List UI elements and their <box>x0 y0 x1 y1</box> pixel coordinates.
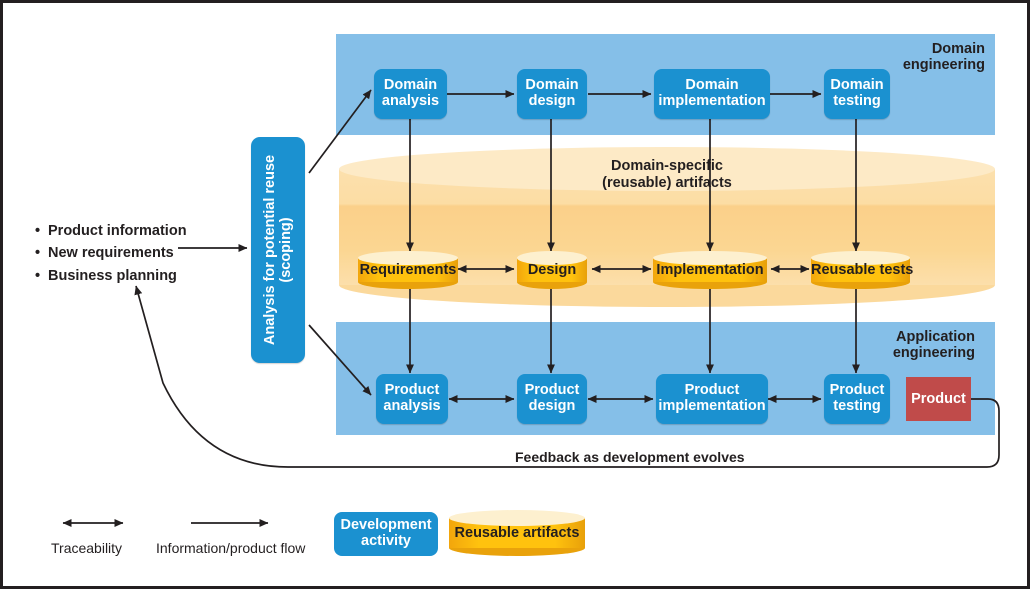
input-bullet-1: •Product information <box>35 220 187 242</box>
artifact-design-label: Design <box>517 262 587 278</box>
legend-development-activity-box: Development activity <box>334 512 438 556</box>
product-output-label: Product <box>911 391 966 407</box>
legend-cylinder-top <box>449 510 585 526</box>
activity-domain-testing-line2: testing <box>830 94 883 110</box>
legend-reusable-artifacts-label: Reusable artifacts <box>449 525 585 541</box>
activity-product-design[interactable]: Product design <box>517 374 587 424</box>
artifact-design[interactable]: Design <box>517 251 587 289</box>
activity-product-design-line1: Product <box>525 383 580 399</box>
activity-domain-design-line1: Domain <box>525 78 578 94</box>
input-bullet-3: •Business planning <box>35 265 187 287</box>
activity-product-analysis-line1: Product <box>383 383 440 399</box>
activity-product-analysis[interactable]: Product analysis <box>376 374 448 424</box>
activity-domain-design[interactable]: Domain design <box>517 69 587 119</box>
artifact-reusable-tests-label: Reusable tests <box>811 262 910 278</box>
activity-product-design-line2: design <box>525 399 580 415</box>
activity-domain-testing[interactable]: Domain testing <box>824 69 890 119</box>
scoping-box-text: Analysis for potential reuse (scoping) <box>262 155 294 345</box>
input-bullet-2: •New requirements <box>35 242 187 264</box>
legend-development-activity-line1: Development <box>340 518 431 534</box>
diagram-frame: Domain engineering Application engineeri… <box>0 0 1030 589</box>
activity-domain-testing-line1: Domain <box>830 78 883 94</box>
legend-info-flow-label: Information/product flow <box>156 540 305 556</box>
activity-domain-analysis-line2: analysis <box>382 94 439 110</box>
bullet-dot-icon: • <box>35 220 48 242</box>
activity-product-implementation-line2: implementation <box>658 399 765 415</box>
activity-domain-analysis-line1: Domain <box>382 78 439 94</box>
activity-product-testing-line1: Product <box>830 383 885 399</box>
artifact-requirements[interactable]: Requirements <box>358 251 458 289</box>
legend-development-activity-line2: activity <box>340 534 431 550</box>
activity-product-implementation[interactable]: Product implementation <box>656 374 768 424</box>
product-output-box[interactable]: Product <box>906 377 971 421</box>
scoping-box-line2: (scoping) <box>278 155 294 345</box>
input-bullet-1-label: Product information <box>48 223 187 239</box>
artifact-implementation-label: Implementation <box>653 262 767 278</box>
artifact-reusable-tests[interactable]: Reusable tests <box>811 251 910 289</box>
activity-domain-implementation-line2: implementation <box>658 94 765 110</box>
activity-domain-design-line2: design <box>525 94 578 110</box>
feedback-label: Feedback as development evolves <box>515 449 745 465</box>
scoping-box[interactable]: Analysis for potential reuse (scoping) <box>251 137 305 363</box>
activity-domain-analysis[interactable]: Domain analysis <box>374 69 447 119</box>
activity-product-testing-line2: testing <box>830 399 885 415</box>
scoping-box-line1: Analysis for potential reuse <box>262 155 278 345</box>
activity-product-testing[interactable]: Product testing <box>824 374 890 424</box>
legend-traceability-label: Traceability <box>51 540 122 556</box>
legend-reusable-artifacts-cylinder: Reusable artifacts <box>449 510 585 556</box>
activity-product-implementation-line1: Product <box>658 383 765 399</box>
activity-domain-implementation-line1: Domain <box>658 78 765 94</box>
bullet-dot-icon: • <box>35 265 48 287</box>
artifact-requirements-label: Requirements <box>358 262 458 278</box>
activity-product-analysis-line2: analysis <box>383 399 440 415</box>
input-bullet-3-label: Business planning <box>48 268 177 284</box>
artifact-implementation[interactable]: Implementation <box>653 251 767 289</box>
inputs-list: •Product information •New requirements •… <box>35 220 187 287</box>
input-bullet-2-label: New requirements <box>48 245 174 261</box>
activity-domain-implementation[interactable]: Domain implementation <box>654 69 770 119</box>
bullet-dot-icon: • <box>35 242 48 264</box>
